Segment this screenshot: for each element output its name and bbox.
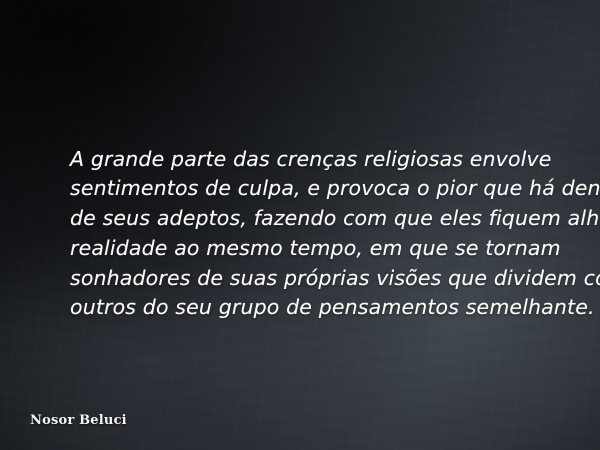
quote-card: A grande parte das crenças religiosas en… [0,0,600,450]
quote-line: A grande parte das crenças religiosas en… [70,145,530,175]
quote-line: sentimentos de culpa, e provoca o pior q… [70,174,530,204]
quote-author: Nosor Beluci [30,413,127,428]
quote-text: A grande parte das crenças religiosas en… [70,145,530,324]
quote-line: outros do seu grupo de pensamentos semel… [70,293,530,323]
quote-line: realidade ao mesmo tempo, em que se torn… [70,234,530,264]
quote-line: sonhadores de suas próprias visões que d… [70,264,530,294]
quote-line: de seus adeptos, fazendo com que eles fi… [70,204,530,234]
